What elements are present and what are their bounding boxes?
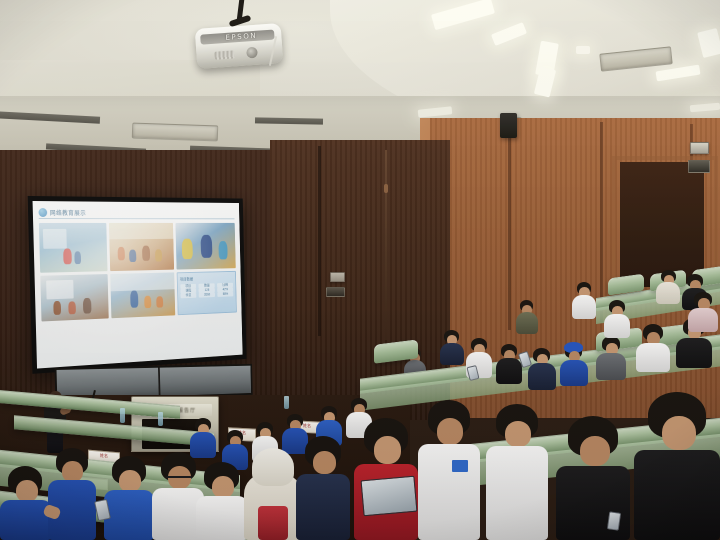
audience-member	[486, 404, 548, 540]
projection-screen: 网络教育展示	[28, 196, 247, 374]
tablet-device[interactable]	[361, 476, 418, 517]
water-bottle	[284, 396, 289, 409]
audience-member	[636, 324, 670, 372]
av-panel-outlet[interactable]	[326, 287, 345, 297]
slide-header: 网络教育展示	[38, 206, 234, 219]
wall-speaker	[500, 113, 517, 138]
slide-bullet-icon	[38, 208, 47, 217]
slide-photo	[39, 223, 108, 273]
audience-member	[48, 448, 96, 540]
projector-vent	[214, 50, 235, 59]
wall-plate-upper[interactable]	[690, 142, 709, 154]
audience-member	[516, 300, 538, 334]
light-panel	[576, 46, 590, 54]
slide-title: 网络教育展示	[50, 208, 86, 217]
slide-photo	[111, 272, 175, 318]
audience-member	[528, 348, 556, 390]
audience-member	[104, 456, 154, 540]
water-bottle	[120, 408, 125, 423]
audience-member	[596, 336, 626, 380]
slide-photo	[40, 274, 109, 321]
slide-photo	[109, 223, 174, 271]
info-cell: 学员	[180, 293, 196, 298]
slide-photo-grid: 项目数据 项目 数量 比例 课程 128 42% 学员	[39, 223, 237, 323]
white-hood	[252, 448, 294, 486]
water-bottle	[158, 412, 163, 426]
slide-info-box: 项目数据 项目 数量 比例 课程 128 42% 学员	[176, 271, 236, 315]
audience-member	[656, 270, 680, 304]
wall-seam	[508, 120, 511, 330]
hanging-cable	[385, 150, 387, 340]
info-cell: 3560	[199, 292, 215, 297]
audience-member	[560, 344, 588, 386]
audience-member	[0, 466, 52, 540]
audience-member	[496, 344, 522, 384]
audience-member	[604, 300, 630, 338]
ceiling-slot	[255, 117, 323, 124]
audience-member	[244, 448, 302, 540]
audience-member	[296, 436, 350, 540]
eyeglasses-icon	[166, 476, 192, 483]
shirt-logo	[452, 460, 468, 472]
lecture-hall-photo: EPSON 网络教育展示	[0, 0, 720, 540]
audience-member	[572, 282, 596, 318]
screen-surface: 网络教育展示	[33, 201, 243, 369]
av-panel[interactable]	[330, 272, 345, 282]
wall-seam	[318, 146, 321, 336]
wall-seam	[600, 122, 603, 322]
hanging-cable-knot	[384, 184, 388, 193]
wall-plate-lower[interactable]	[688, 160, 710, 173]
projector-lens	[246, 47, 258, 59]
rear-doorway	[620, 162, 704, 287]
mobile-phone[interactable]	[607, 511, 621, 530]
audience-member	[688, 292, 718, 332]
air-vent	[132, 123, 219, 142]
info-box-row: 学员 3560 58%	[180, 292, 233, 299]
audience-member	[440, 330, 464, 364]
slide-photo	[175, 223, 236, 270]
audience-member	[418, 400, 480, 540]
audience-member	[634, 392, 720, 540]
audience-member	[196, 462, 248, 540]
info-cell: 58%	[217, 292, 233, 297]
info-box-heading: 项目数据	[180, 275, 233, 282]
projector-brand-label: EPSON	[221, 30, 262, 43]
slide-content: 网络教育展示	[33, 201, 243, 369]
whiteboard-divider	[158, 368, 160, 397]
